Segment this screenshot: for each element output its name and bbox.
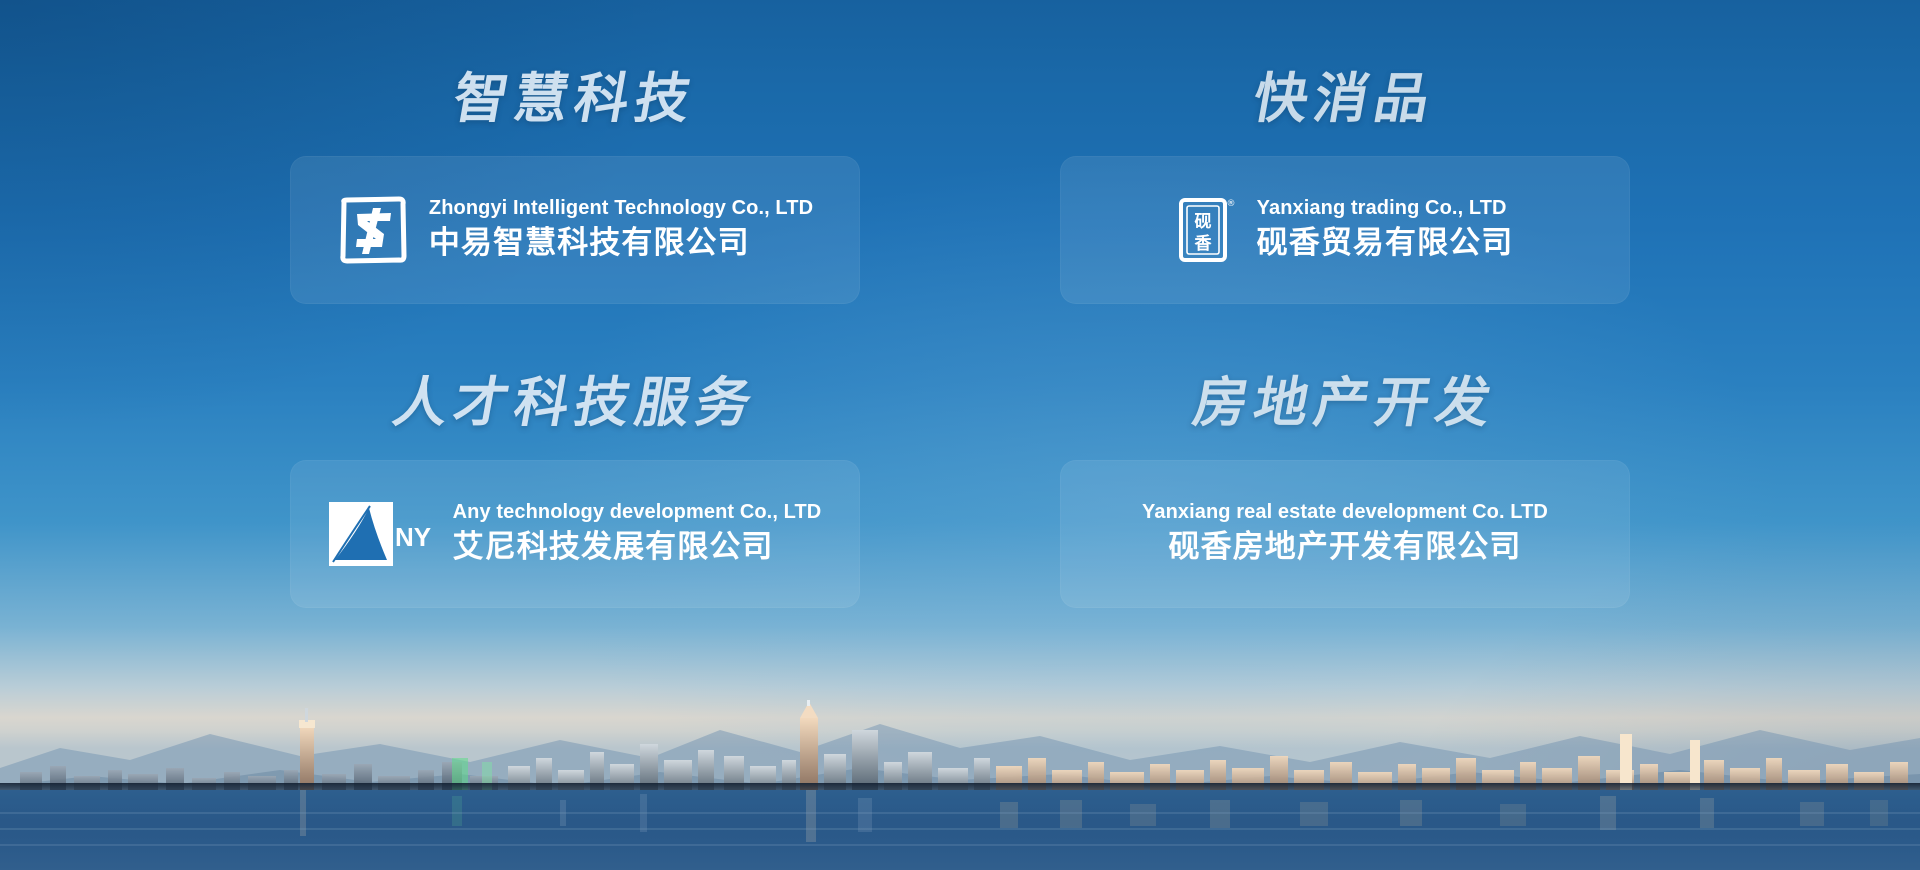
company-name-en-2: Yanxiang trading Co., LTD	[1257, 196, 1514, 221]
company-name-cn-2: 砚香贸易有限公司	[1257, 223, 1514, 263]
any-logo-text: NY	[395, 522, 431, 552]
sector-block-3: 人才科技服务 NY Any technology development Co.…	[230, 376, 920, 670]
company-name-en-4: Yanxiang real estate development Co. LTD	[1142, 500, 1548, 525]
company-names-4: Yanxiang real estate development Co. LTD…	[1142, 500, 1548, 567]
business-sectors-grid: 智慧科技 Zhongyi Intelligent Technology Co.,…	[0, 0, 1920, 870]
zhongyi-z-logo-icon	[337, 194, 409, 266]
sector-title-4: 房地产开发	[1189, 376, 1501, 430]
sector-title-3: 人才科技服务	[389, 376, 761, 430]
company-card-1[interactable]: Zhongyi Intelligent Technology Co., LTD …	[290, 156, 860, 304]
company-names-3: Any technology development Co., LTD 艾尼科技…	[453, 500, 822, 567]
company-card-3[interactable]: NY Any technology development Co., LTD 艾…	[290, 460, 860, 608]
company-names-2: Yanxiang trading Co., LTD 砚香贸易有限公司	[1257, 196, 1514, 263]
company-card-4[interactable]: Yanxiang real estate development Co. LTD…	[1060, 460, 1630, 608]
sector-title-1: 智慧科技	[449, 72, 700, 126]
sector-title-2: 快消品	[1250, 72, 1441, 126]
sector-block-1: 智慧科技 Zhongyi Intelligent Technology Co.,…	[230, 72, 920, 366]
company-names-1: Zhongyi Intelligent Technology Co., LTD …	[429, 196, 813, 263]
any-mountain-logo-icon: NY	[329, 502, 433, 566]
trademark-symbol: ®	[1226, 199, 1235, 209]
company-name-cn-4: 砚香房地产开发有限公司	[1169, 527, 1522, 567]
sector-block-2: 快消品 砚 香 ® Yanxiang trading Co., LTD 砚香贸易…	[1000, 72, 1690, 366]
company-name-cn-1: 中易智慧科技有限公司	[429, 223, 813, 263]
svg-text:香: 香	[1194, 234, 1211, 254]
yanxiang-seal-logo-icon: 砚 香 ®	[1177, 194, 1237, 266]
svg-text:砚: 砚	[1194, 212, 1211, 232]
company-card-2[interactable]: 砚 香 ® Yanxiang trading Co., LTD 砚香贸易有限公司	[1060, 156, 1630, 304]
company-name-en-3: Any technology development Co., LTD	[453, 500, 822, 525]
company-name-en-1: Zhongyi Intelligent Technology Co., LTD	[429, 196, 813, 221]
sector-block-4: 房地产开发 Yanxiang real estate development C…	[1000, 376, 1690, 670]
company-name-cn-3: 艾尼科技发展有限公司	[453, 527, 822, 567]
